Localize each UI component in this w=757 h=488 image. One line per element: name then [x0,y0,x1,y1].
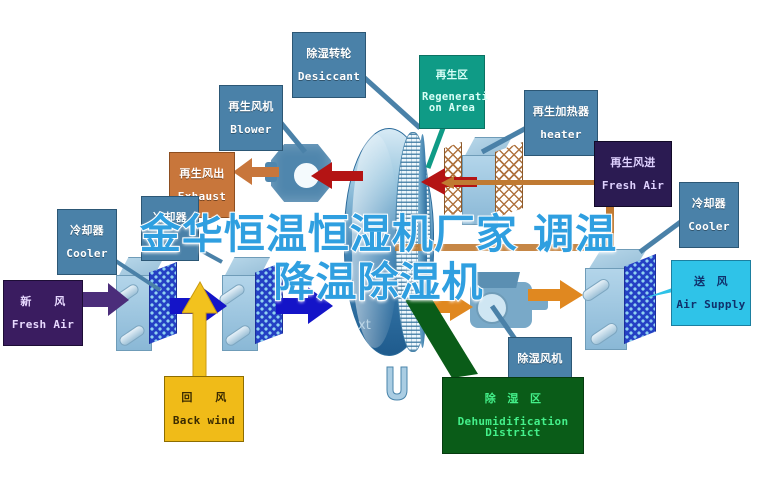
label-heater-cn: 再生加热器 [527,106,595,118]
label-dehumid-district-cn: 除 湿 区 [445,393,581,405]
label-cooler-left-1-cn: 冷却器 [60,225,114,237]
label-regen-blower-en: Blower [222,124,280,136]
label-regen-fresh-air-cn: 再生风进 [597,157,669,169]
label-exhaust-cn: 再生风出 [172,168,232,180]
label-cooler-left-2-cn: 冷却器 [144,212,196,224]
label-back-wind-en: Back wind [167,415,241,427]
label-regen-area-en: Regenerati on Area [422,92,482,114]
label-fresh-air-inlet[interactable]: 新 风 Fresh Air [3,280,83,346]
label-cooler-right-cn: 冷却器 [682,198,736,210]
label-air-supply-cn: 送 风 [674,276,748,288]
label-regen-blower-cn: 再生风机 [222,101,280,113]
label-back-wind[interactable]: 回 风 Back wind [164,376,244,442]
dehumidifier-schematic-diagram: xt [0,0,757,488]
label-dehumid-district-en: Dehumidification District [445,416,581,439]
label-air-supply[interactable]: 送 风 Air Supply [671,260,751,326]
label-cooler-left-2[interactable]: 冷却器 [141,196,199,261]
label-desiccant-wheel[interactable]: 除湿转轮 Desiccant [292,32,366,98]
label-cooler-right-en: Cooler [682,221,736,233]
label-dehumid-blower-cn: 除湿风机 [511,353,569,365]
label-air-supply-en: Air Supply [674,299,748,311]
label-regeneration-blower[interactable]: 再生风机 Blower [219,85,283,151]
label-dehumidification-district[interactable]: 除 湿 区 Dehumidification District [442,377,584,454]
label-regeneration-area[interactable]: 再生区 Regenerati on Area [419,55,485,129]
label-desiccant-wheel-en: Desiccant [295,71,363,83]
label-heater-en: heater [527,129,595,141]
label-cooler-left-1[interactable]: 冷却器 Cooler [57,209,117,275]
label-cooler-left-1-en: Cooler [60,248,114,260]
label-fresh-air-en: Fresh Air [6,319,80,331]
label-back-wind-cn: 回 风 [167,392,241,404]
label-regen-area-cn: 再生区 [422,70,482,81]
label-desiccant-wheel-cn: 除湿转轮 [295,48,363,60]
label-regeneration-heater[interactable]: 再生加热器 heater [524,90,598,156]
label-cooler-right[interactable]: 冷却器 Cooler [679,182,739,248]
label-fresh-air-cn: 新 风 [6,296,80,308]
label-regeneration-fresh-air[interactable]: 再生风进 Fresh Air [594,141,672,207]
label-regen-fresh-air-en: Fresh Air [597,180,669,192]
